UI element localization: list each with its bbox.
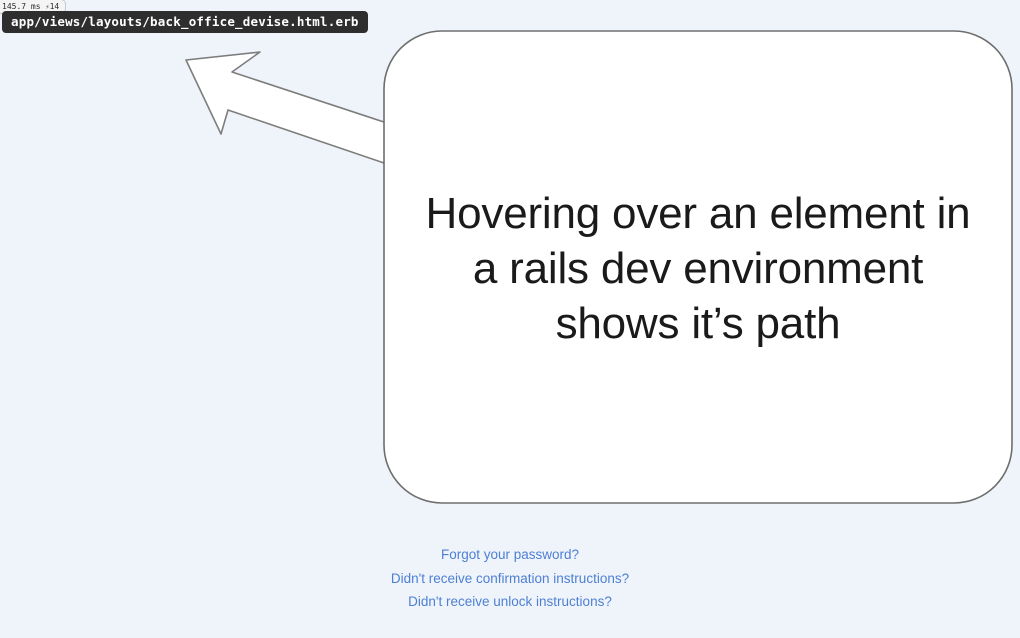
devise-links-group: Forgot your password? Didn't receive con… [0,543,1020,614]
arrow-up-left-icon [186,52,390,163]
forgot-password-link[interactable]: Forgot your password? [0,543,1020,567]
callout-text: Hovering over an element in a rails dev … [398,186,998,351]
resend-confirmation-link[interactable]: Didn't receive confirmation instructions… [0,567,1020,591]
callout-line-2: a rails dev environment [398,241,998,296]
callout-line-1: Hovering over an element in [398,186,998,241]
screenshot-canvas: 145.7 ms ⚡14 app/views/layouts/back_offi… [0,0,1020,638]
callout-line-3: shows it’s path [398,296,998,351]
resend-unlock-link[interactable]: Didn't receive unlock instructions? [0,590,1020,614]
